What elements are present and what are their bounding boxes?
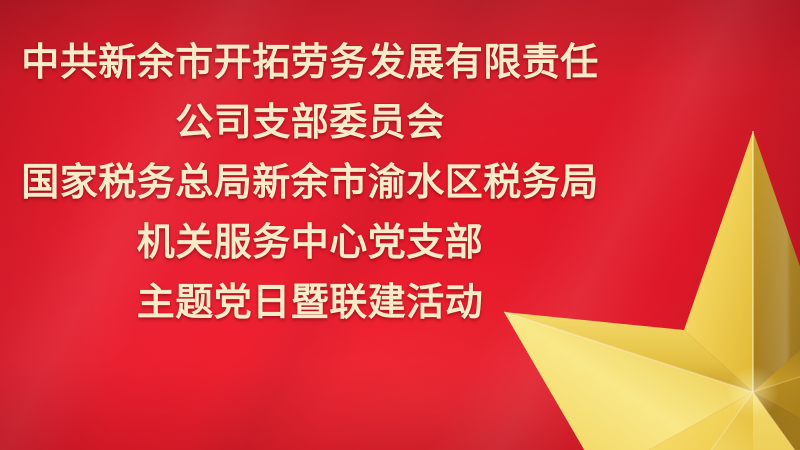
title-block: 中共新余市开拓劳务发展有限责任 公司支部委员会 国家税务总局新余市渝水区税务局 … <box>0 44 620 322</box>
title-line-4: 机关服务中心党支部 <box>0 224 620 262</box>
title-line-1: 中共新余市开拓劳务发展有限责任 <box>0 44 620 82</box>
title-line-3: 国家税务总局新余市渝水区税务局 <box>0 164 620 202</box>
title-line-5: 主题党日暨联建活动 <box>0 284 620 322</box>
title-line-2: 公司支部委员会 <box>0 104 620 142</box>
banner-canvas: 中共新余市开拓劳务发展有限责任 公司支部委员会 国家税务总局新余市渝水区税务局 … <box>0 0 800 450</box>
